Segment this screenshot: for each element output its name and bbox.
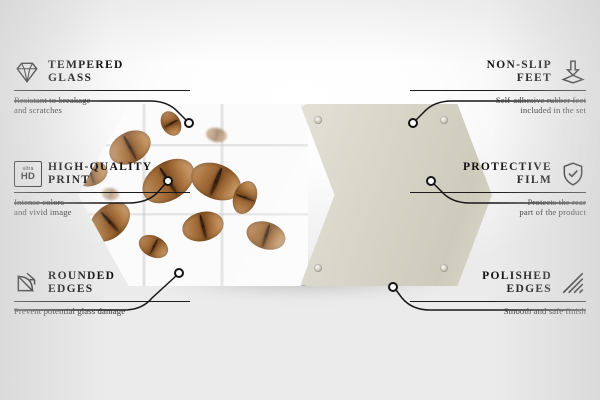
- feature-title-line2: EDGES: [48, 283, 94, 295]
- feature-desc-line1: Prevent potential glass damage: [14, 306, 125, 316]
- feature-desc-line2: part of the product: [519, 207, 586, 217]
- feature-title-line1: HIGH-QUALITY: [48, 161, 152, 173]
- feature-divider: [410, 90, 586, 91]
- feature-title-line1: PROTECTIVE: [463, 161, 552, 173]
- feature-title-line1: POLISHED: [482, 270, 552, 282]
- feature-desc-line1: Smooth and safe finish: [504, 306, 586, 316]
- infographic-canvas: TEMPERED GLASS Resistant to breakage and…: [0, 0, 600, 400]
- feature-title-line1: TEMPERED: [48, 59, 124, 71]
- press-down-pad-icon: [560, 59, 586, 85]
- feature-desc-line1: Self-adhesive rubber feet: [496, 95, 586, 105]
- feature-divider: [14, 301, 190, 302]
- feature-divider: [410, 301, 586, 302]
- feature-title-line1: ROUNDED: [48, 270, 115, 282]
- feature-polished-edges: POLISHED EDGES Smooth and safe finish: [410, 270, 586, 316]
- rounded-corner-icon: [14, 270, 40, 296]
- feature-divider: [14, 192, 190, 193]
- feature-desc-line2: and scratches: [14, 105, 62, 115]
- feature-high-quality-print: ultra HD HIGH-QUALITY PRINT Intense colo…: [14, 161, 190, 218]
- feature-divider: [410, 192, 586, 193]
- feature-non-slip-feet: NON-SLIP FEET Self-adhesive rubber feet …: [410, 59, 586, 116]
- feature-title-line2: FILM: [517, 174, 552, 186]
- shield-check-icon: [560, 161, 586, 187]
- feature-rounded-edges: ROUNDED EDGES Prevent potential glass da…: [14, 270, 190, 316]
- feature-desc-line1: Protects the rear: [528, 197, 586, 207]
- ultra-hd-badge-icon: ultra HD: [14, 161, 40, 187]
- rubber-foot: [314, 264, 322, 272]
- feature-desc-line2: and vivid image: [14, 207, 72, 217]
- feature-title-line1: NON-SLIP: [487, 59, 552, 71]
- feature-desc-line2: included in the set: [520, 105, 586, 115]
- feature-protective-film: PROTECTIVE FILM Protects the rear part o…: [410, 161, 586, 218]
- feature-divider: [14, 90, 190, 91]
- feature-title-line2: FEET: [517, 72, 552, 84]
- rubber-foot: [440, 116, 448, 124]
- diamond-icon: [14, 59, 40, 85]
- feature-title-line2: EDGES: [507, 283, 553, 295]
- feature-title-line2: GLASS: [48, 72, 92, 84]
- badge-large-text: HD: [21, 172, 35, 182]
- feature-title-line2: PRINT: [48, 174, 90, 186]
- feature-desc-line1: Intense colors: [14, 197, 64, 207]
- feature-tempered-glass: TEMPERED GLASS Resistant to breakage and…: [14, 59, 190, 116]
- feature-desc-line1: Resistant to breakage: [14, 95, 91, 105]
- diagonal-hatch-icon: [560, 270, 586, 296]
- rubber-foot: [314, 116, 322, 124]
